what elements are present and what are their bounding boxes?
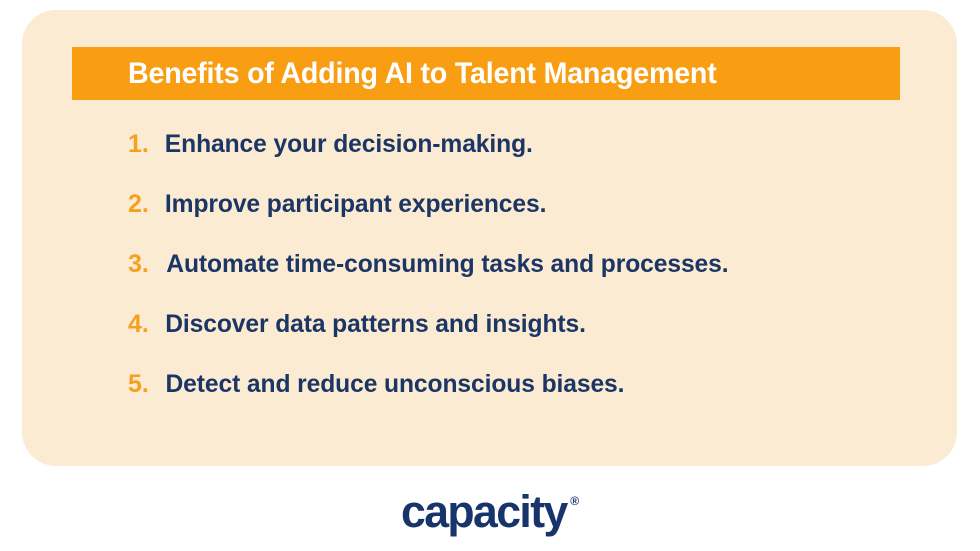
list-item-label: Improve participant experiences. xyxy=(165,192,546,217)
page-title: Benefits of Adding AI to Talent Manageme… xyxy=(128,59,717,89)
registered-trademark-icon: ® xyxy=(570,495,579,507)
list-item-label: Automate time-consuming tasks and proces… xyxy=(166,252,728,277)
list-item-number: 4. xyxy=(128,312,162,337)
list-item-label: Enhance your decision-making. xyxy=(165,132,533,157)
list-item-label: Detect and reduce unconscious biases. xyxy=(165,372,624,397)
list-item: 4. Discover data patterns and insights. xyxy=(128,312,733,372)
list-item-label: Discover data patterns and insights. xyxy=(165,312,586,337)
brand-logo-inner: capacity ® xyxy=(401,489,579,534)
list-item: 1. Enhance your decision-making. xyxy=(128,132,733,192)
title-banner: Benefits of Adding AI to Talent Manageme… xyxy=(72,47,900,100)
brand-wordmark: capacity xyxy=(401,489,567,534)
benefits-list: 1. Enhance your decision-making. 2. Impr… xyxy=(128,132,733,432)
list-item-number: 1. xyxy=(128,132,162,157)
list-item: 5. Detect and reduce unconscious biases. xyxy=(128,372,733,432)
benefits-card: Benefits of Adding AI to Talent Manageme… xyxy=(22,10,957,466)
list-item: 3. Automate time-consuming tasks and pro… xyxy=(128,252,733,312)
list-item-number: 2. xyxy=(128,192,162,217)
list-item: 2. Improve participant experiences. xyxy=(128,192,733,252)
list-item-number: 5. xyxy=(128,372,162,397)
brand-logo: capacity ® xyxy=(0,486,980,536)
list-item-number: 3. xyxy=(128,252,162,277)
infographic-root: Benefits of Adding AI to Talent Manageme… xyxy=(0,0,980,551)
